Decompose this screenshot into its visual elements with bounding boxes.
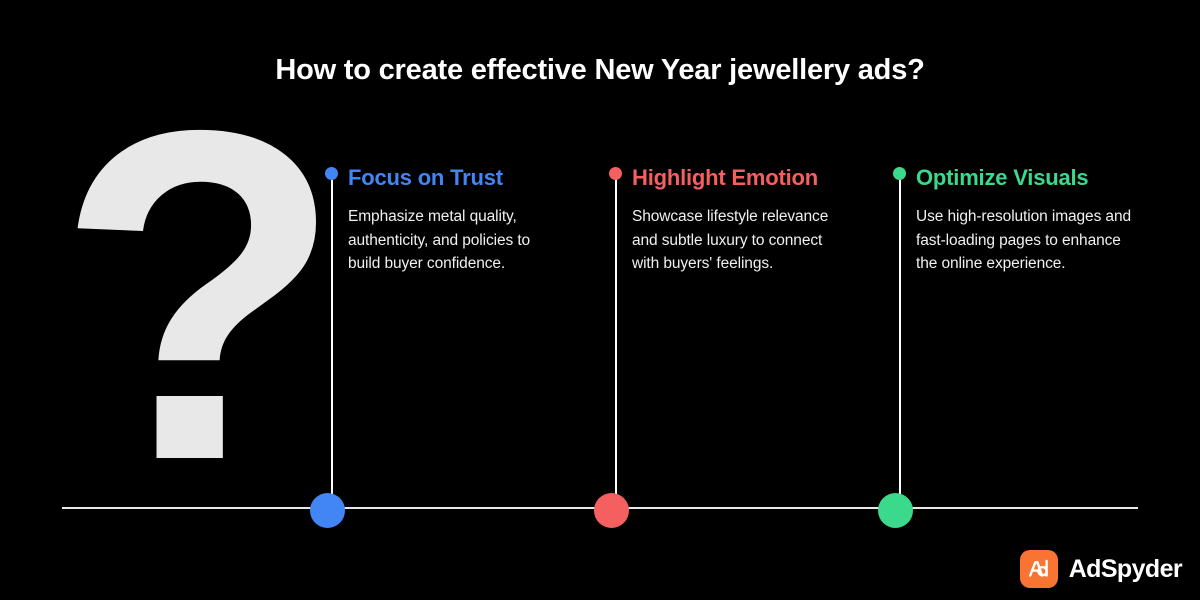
timeline-marker-large <box>594 493 629 528</box>
brand-name: AdSpyder <box>1069 555 1182 584</box>
timeline-item-content: Highlight Emotion Showcase lifestyle rel… <box>632 162 832 276</box>
timeline-item-heading: Optimize Visuals <box>916 162 1138 193</box>
timeline-marker-small <box>893 167 906 180</box>
adspyder-mark-icon <box>1020 550 1058 588</box>
timeline-item-content: Focus on Trust Emphasize metal quality, … <box>348 162 563 276</box>
timeline-item-body: Showcase lifestyle relevance and subtle … <box>632 205 832 276</box>
timeline: Focus on Trust Emphasize metal quality, … <box>0 0 1200 600</box>
timeline-item-content: Optimize Visuals Use high-resolution ima… <box>916 162 1138 276</box>
timeline-item-body: Use high-resolution images and fast-load… <box>916 205 1138 276</box>
timeline-connector-line <box>331 172 333 515</box>
timeline-marker-large <box>310 493 345 528</box>
timeline-item-heading: Highlight Emotion <box>632 162 832 193</box>
timeline-connector-line <box>615 172 617 515</box>
timeline-connector-line <box>899 172 901 515</box>
brand-logo[interactable]: AdSpyder <box>1020 550 1182 588</box>
timeline-marker-small <box>325 167 338 180</box>
timeline-item-body: Emphasize metal quality, authenticity, a… <box>348 205 563 276</box>
timeline-marker-small <box>609 167 622 180</box>
timeline-marker-large <box>878 493 913 528</box>
timeline-item-heading: Focus on Trust <box>348 162 563 193</box>
